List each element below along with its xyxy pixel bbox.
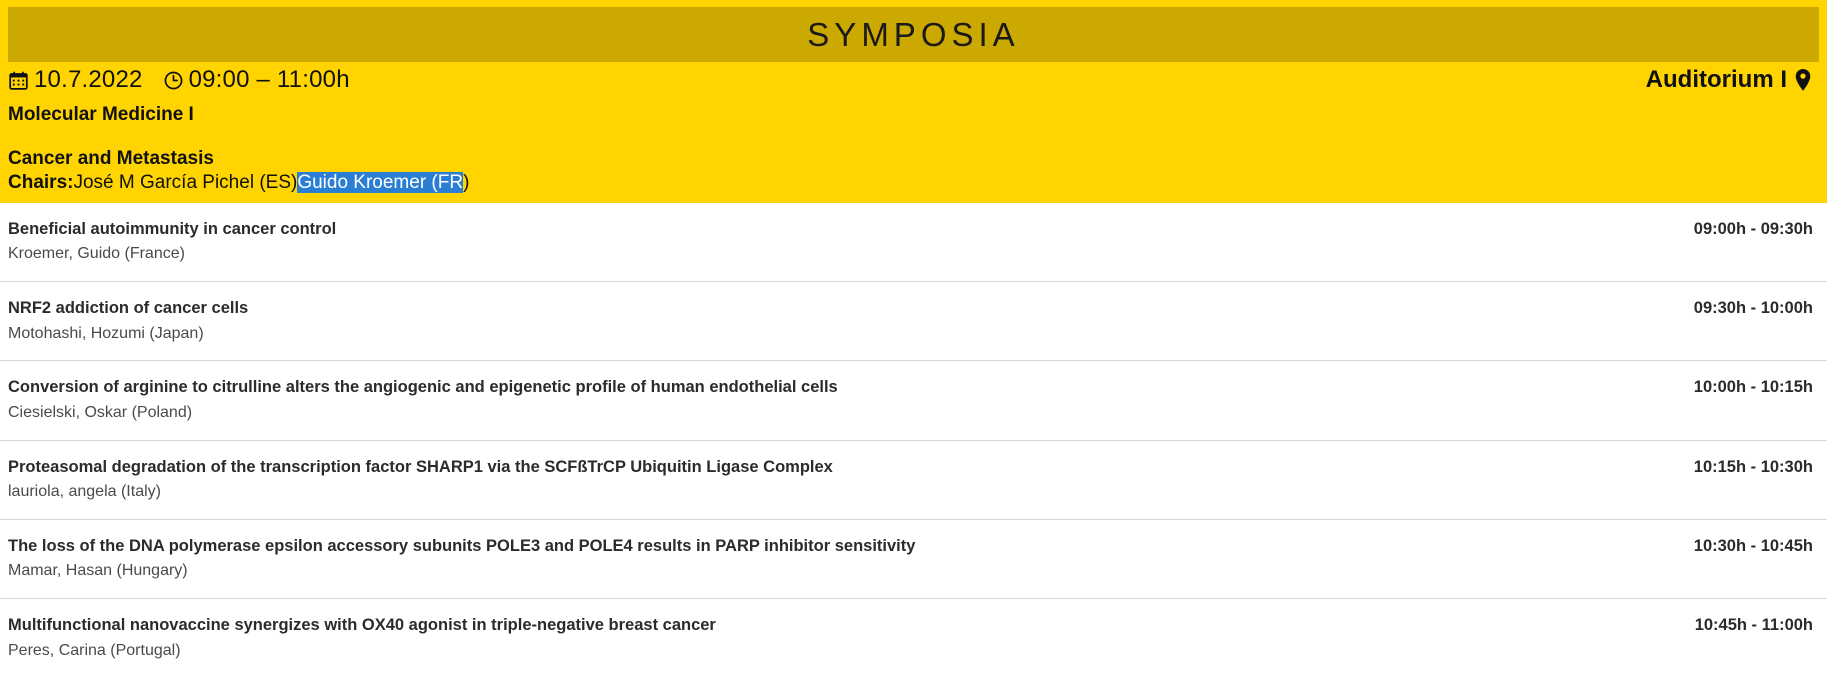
- talk-author: Kroemer, Guido (France): [8, 244, 1664, 265]
- talk-author: Motohashi, Hozumi (Japan): [8, 324, 1664, 345]
- talk-main: Proteasomal degradation of the transcrip…: [8, 457, 1664, 503]
- talk-main: Conversion of arginine to citrulline alt…: [8, 377, 1664, 423]
- talk-title: Multifunctional nanovaccine synergizes w…: [8, 615, 1665, 636]
- talk-title: Proteasomal degradation of the transcrip…: [8, 457, 1664, 478]
- table-row[interactable]: Conversion of arginine to citrulline alt…: [0, 361, 1827, 440]
- talk-main: Beneficial autoimmunity in cancer contro…: [8, 219, 1664, 265]
- chair-tail: ): [463, 172, 469, 193]
- talk-author: Peres, Carina (Portugal): [8, 641, 1665, 662]
- table-row[interactable]: NRF2 addiction of cancer cells Motohashi…: [0, 282, 1827, 361]
- talk-title: Conversion of arginine to citrulline alt…: [8, 377, 1664, 398]
- session-time-group: 09:00 – 11:00h: [163, 66, 350, 94]
- session-meta-row: 10.7.2022 09:00 – 11:00h Auditorium I: [8, 66, 1813, 94]
- chair-first: José M García Pichel (ES): [73, 172, 297, 193]
- talk-author: Ciesielski, Oskar (Poland): [8, 403, 1664, 424]
- talk-time: 10:30h - 10:45h: [1664, 536, 1813, 556]
- session-location-group: Auditorium I: [1646, 66, 1813, 94]
- session-page: SYMPOSIA: [0, 0, 1827, 605]
- table-row[interactable]: Beneficial autoimmunity in cancer contro…: [0, 203, 1827, 282]
- talk-title: The loss of the DNA polymerase epsilon a…: [8, 536, 1664, 557]
- session-track-name: Molecular Medicine I: [8, 104, 194, 126]
- symposia-banner-title: SYMPOSIA: [807, 16, 1019, 54]
- session-time-range: 09:00 – 11:00h: [189, 66, 350, 94]
- table-row[interactable]: Multifunctional nanovaccine synergizes w…: [0, 599, 1827, 677]
- session-date: 10.7.2022: [34, 66, 143, 94]
- session-meta-left: 10.7.2022 09:00 – 11:00h: [8, 66, 350, 94]
- talk-main: NRF2 addiction of cancer cells Motohashi…: [8, 298, 1664, 344]
- clock-icon: [163, 70, 184, 91]
- calendar-icon: [8, 70, 29, 91]
- talk-time: 09:00h - 09:30h: [1664, 219, 1813, 239]
- talk-title: Beneficial autoimmunity in cancer contro…: [8, 219, 1664, 240]
- session-location: Auditorium I: [1646, 66, 1787, 94]
- talk-main: The loss of the DNA polymerase epsilon a…: [8, 536, 1664, 582]
- session-chairs-line: Chairs:José M García Pichel (ES)Guido Kr…: [8, 172, 469, 194]
- talk-time: 10:45h - 11:00h: [1665, 615, 1813, 635]
- talk-time: 10:15h - 10:30h: [1664, 457, 1813, 477]
- talk-author: Mamar, Hasan (Hungary): [8, 561, 1664, 582]
- chair-selected-highlight[interactable]: Guido Kroemer (FR: [297, 172, 463, 193]
- talk-time: 09:30h - 10:00h: [1664, 298, 1813, 318]
- session-topic-title: Cancer and Metastasis: [8, 148, 469, 170]
- session-header-block: SYMPOSIA: [0, 0, 1827, 203]
- talk-author: lauriola, angela (Italy): [8, 482, 1664, 503]
- chairs-label: Chairs:: [8, 172, 73, 193]
- map-pin-icon: [1793, 68, 1813, 92]
- table-row[interactable]: The loss of the DNA polymerase epsilon a…: [0, 520, 1827, 599]
- talk-title: NRF2 addiction of cancer cells: [8, 298, 1664, 319]
- table-row[interactable]: Proteasomal degradation of the transcrip…: [0, 441, 1827, 520]
- session-topic-block: Cancer and Metastasis Chairs:José M Garc…: [8, 148, 469, 194]
- talks-list: Beneficial autoimmunity in cancer contro…: [0, 203, 1827, 677]
- symposia-banner: SYMPOSIA: [8, 7, 1819, 62]
- talk-time: 10:00h - 10:15h: [1664, 377, 1813, 397]
- talk-main: Multifunctional nanovaccine synergizes w…: [8, 615, 1665, 661]
- session-date-group: 10.7.2022: [8, 66, 143, 94]
